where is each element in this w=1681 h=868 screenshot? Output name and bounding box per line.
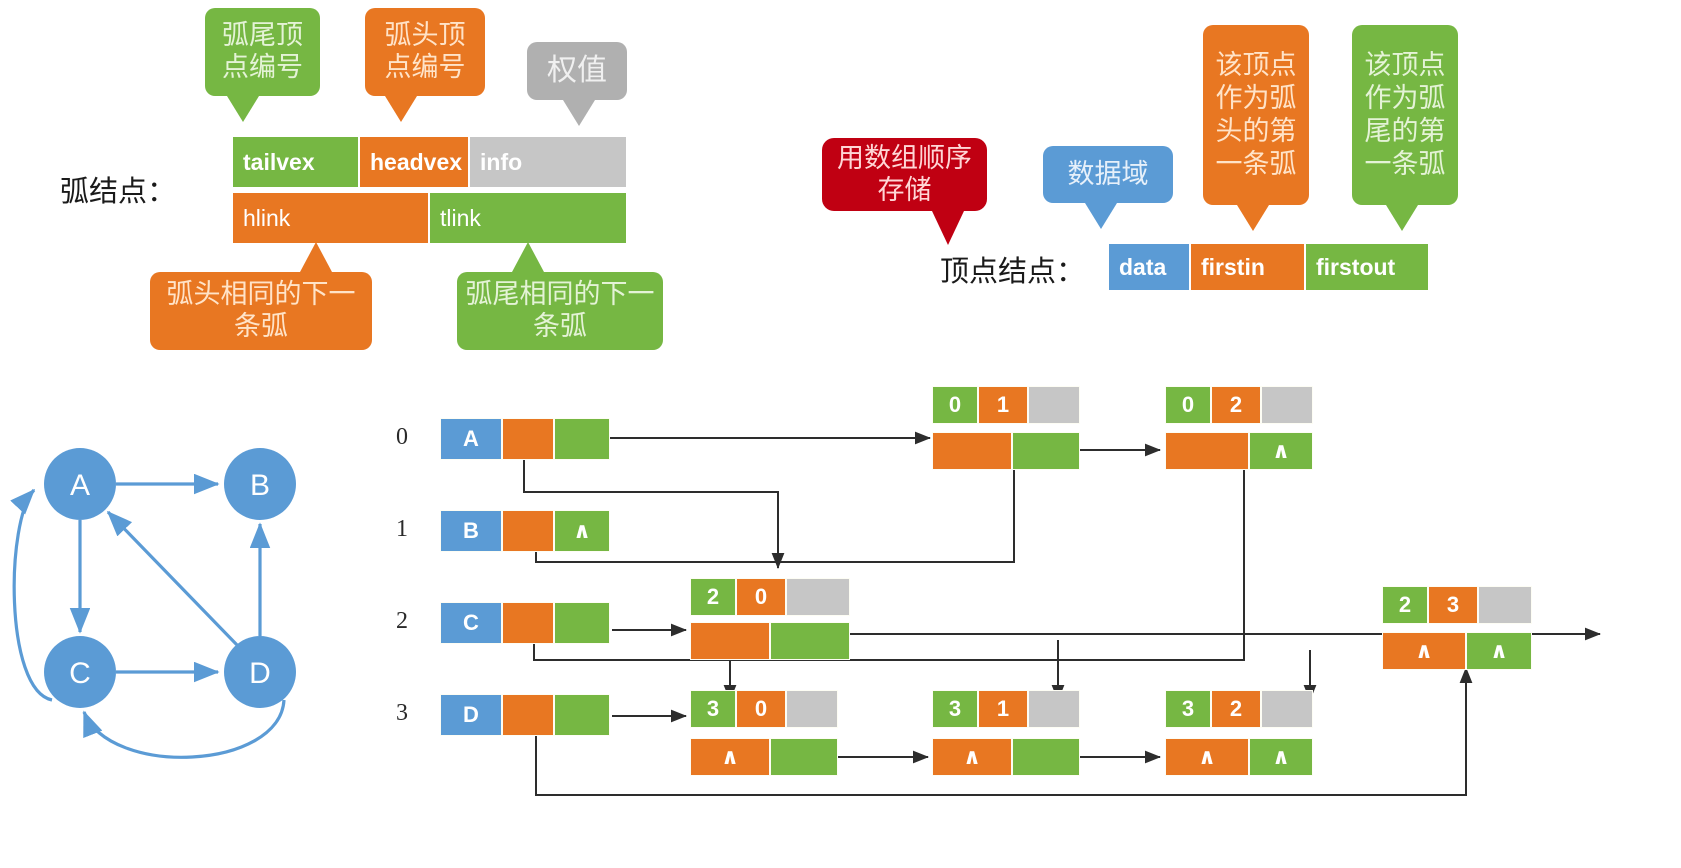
graph-vertex-labels: ABCD [69,469,271,690]
vertex-firstout-1[interactable]: ∧ [554,510,610,552]
row-index-0: 0 [396,424,408,451]
callout-hlink-text: 弧头相同的下一条弧 [158,279,364,343]
arc-hlink-3-2[interactable]: ∧ [1165,738,1249,776]
arc-info-0-1 [1261,386,1313,424]
arc-tlink-2-0[interactable] [770,622,850,660]
arc-tailvex-0-0: 0 [932,386,978,424]
vertex-firstout-0[interactable] [554,418,610,460]
arc-tlink-2-1[interactable]: ∧ [1466,632,1532,670]
callout-tail [1085,203,1117,229]
arc-hlink-2-0[interactable] [690,622,770,660]
arc-headvex-2-0: 0 [736,578,786,616]
arc-hlink-2-1[interactable]: ∧ [1382,632,1466,670]
field-headvex: headvex [359,136,469,188]
callout-data: 数据域 [1043,146,1173,203]
graph-vertex-D [224,636,296,708]
arc-tailvex-2-1: 2 [1382,586,1428,624]
callout-tail [563,100,595,126]
callout-headvex: 弧头顶点编号 [365,8,485,96]
vertex-firstin-1[interactable] [502,510,554,552]
field-info: info [469,136,627,188]
arc-tlink-3-0[interactable] [770,738,838,776]
callout-tail [512,242,544,272]
callout-firstin: 该顶点作为弧头的第一条弧 [1203,25,1309,205]
callout-tailvex: 弧尾顶点编号 [205,8,320,96]
graph-vertex-A [44,448,116,520]
callout-tail [227,96,259,122]
graph-vertex-label-B: B [250,469,270,502]
arc-hlink-0-0[interactable] [932,432,1012,470]
arc-tlink-3-1[interactable] [1012,738,1080,776]
graph-vertex-label-C: C [69,657,91,690]
vertex-data-0: A [440,418,502,460]
field-label: hlink [243,205,290,232]
callout-tail [385,96,417,122]
field-firstin: firstin [1190,243,1305,291]
callout-headvex-text: 弧头顶点编号 [373,20,477,84]
arc-tlink-3-2[interactable]: ∧ [1249,738,1313,776]
row-index-2: 2 [396,608,408,635]
field-hlink: hlink [232,192,429,244]
callout-tlink: 弧尾相同的下一条弧 [457,272,663,350]
arc-node-bottom-fields: hlink tlink [232,192,627,244]
field-label: data [1119,254,1166,281]
graph-edges [14,484,284,757]
field-label: tailvex [243,149,315,176]
row-index-3: 3 [396,700,408,727]
row-index-1: 1 [396,516,408,543]
arc-headvex-3-0: 0 [736,690,786,728]
vertex-firstin-3[interactable] [502,694,554,736]
callout-info-text: 权值 [547,53,607,88]
graph-vertex-C [44,636,116,708]
arc-tailvex-3-0: 3 [690,690,736,728]
arc-hlink-0-1[interactable] [1165,432,1249,470]
vertex-firstout-3[interactable] [554,694,610,736]
graph-vertex-B [224,448,296,520]
arc-headvex-2-1: 3 [1428,586,1478,624]
field-tlink: tlink [429,192,627,244]
callout-tail [1237,205,1269,231]
field-label: headvex [370,149,462,176]
field-label: firstout [1316,254,1395,281]
vertex-node-label: 顶点结点： [940,248,1085,290]
arc-hlink-3-0[interactable]: ∧ [690,738,770,776]
arc-headvex-3-2: 2 [1211,690,1261,728]
field-label: tlink [440,205,481,232]
callout-data-text: 数据域 [1068,159,1149,191]
arc-tailvex-2-0: 2 [690,578,736,616]
callout-tailvex-text: 弧尾顶点编号 [213,20,312,84]
field-tailvex: tailvex [232,136,359,188]
callout-firstin-text: 该顶点作为弧头的第一条弧 [1211,49,1301,181]
vertex-node-fields: data firstin firstout [1108,243,1429,291]
callout-tail [932,211,964,245]
graph-vertex-label-A: A [70,469,90,502]
callout-hlink: 弧头相同的下一条弧 [150,272,372,350]
vertex-data-2: C [440,602,502,644]
arc-tailvex-3-1: 3 [932,690,978,728]
field-firstout: firstout [1305,243,1429,291]
callout-firstout: 该顶点作为弧尾的第一条弧 [1352,25,1458,205]
vertex-firstin-2[interactable] [502,602,554,644]
arc-info-0-0 [1028,386,1080,424]
vertex-firstout-2[interactable] [554,602,610,644]
callout-tlink-text: 弧尾相同的下一条弧 [465,279,655,343]
arc-hlink-3-1[interactable]: ∧ [932,738,1012,776]
arc-info-3-1 [1028,690,1080,728]
graph-vertices [44,448,296,708]
vertex-data-3: D [440,694,502,736]
callout-tail [300,242,332,272]
arc-tailvex-3-2: 3 [1165,690,1211,728]
callout-tail [1386,205,1418,231]
callout-info: 权值 [527,42,627,100]
field-data: data [1108,243,1190,291]
field-label: firstin [1201,254,1265,281]
arc-node-label: 弧结点： [60,168,176,210]
callout-array-storage: 用数组顺序存储 [822,138,987,211]
arc-node-top-fields: tailvex headvex info [232,136,627,188]
arc-info-2-1 [1478,586,1532,624]
vertex-data-1: B [440,510,502,552]
graph-vertex-label-D: D [249,657,271,690]
callout-array-storage-text: 用数组顺序存储 [830,143,979,207]
callout-firstout-text: 该顶点作为弧尾的第一条弧 [1360,49,1450,181]
arc-tlink-0-0[interactable] [1012,432,1080,470]
arc-info-3-0 [786,690,838,728]
vertex-firstin-0[interactable] [502,418,554,460]
arc-headvex-0-0: 1 [978,386,1028,424]
arc-tailvex-0-1: 0 [1165,386,1211,424]
arc-tlink-0-1[interactable]: ∧ [1249,432,1313,470]
arc-info-3-2 [1261,690,1313,728]
arc-headvex-3-1: 1 [978,690,1028,728]
field-label: info [480,149,522,176]
arc-headvex-0-1: 2 [1211,386,1261,424]
arc-info-2-0 [786,578,850,616]
